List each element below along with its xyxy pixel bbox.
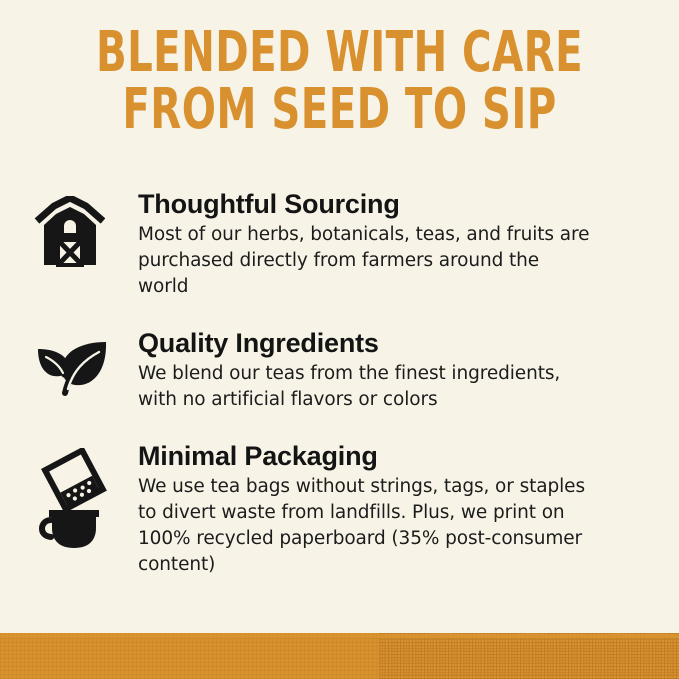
feature-body: Most of our herbs, botanicals, teas, and…	[138, 222, 593, 300]
feature-icon-slot	[34, 440, 138, 552]
barn-icon	[34, 196, 106, 268]
headline-line-2: FROM SEED TO SIP	[68, 81, 611, 138]
teabag-mug-icon	[34, 448, 114, 552]
band-torn-edge	[0, 633, 679, 638]
feature-text-slot: Thoughtful Sourcing Most of our herbs, b…	[138, 188, 679, 300]
feature-list: Thoughtful Sourcing Most of our herbs, b…	[0, 188, 679, 605]
infographic-panel: BLENDED WITH CARE FROM SEED TO SIP	[0, 0, 679, 679]
feature-text-slot: Quality Ingredients We blend our teas fr…	[138, 327, 679, 413]
feature-item-thoughtful-sourcing: Thoughtful Sourcing Most of our herbs, b…	[0, 188, 679, 300]
feature-title: Quality Ingredients	[138, 327, 645, 359]
feature-item-minimal-packaging: Minimal Packaging We use tea bags withou…	[0, 440, 679, 578]
feature-item-quality-ingredients: Quality Ingredients We blend our teas fr…	[0, 327, 679, 413]
footer-orange-band	[0, 633, 679, 679]
feature-icon-slot	[34, 327, 138, 397]
feature-title: Minimal Packaging	[138, 440, 645, 472]
headline-line-1: BLENDED WITH CARE	[68, 24, 611, 81]
feature-text-slot: Minimal Packaging We use tea bags withou…	[138, 440, 679, 578]
feature-icon-slot	[34, 188, 138, 268]
band-texture-overlay-right	[379, 633, 679, 679]
feature-title: Thoughtful Sourcing	[138, 188, 645, 220]
feature-body: We blend our teas from the finest ingred…	[138, 361, 593, 413]
page-title: BLENDED WITH CARE FROM SEED TO SIP	[68, 24, 611, 138]
feature-body: We use tea bags without strings, tags, o…	[138, 474, 593, 578]
leaves-icon	[34, 339, 112, 397]
